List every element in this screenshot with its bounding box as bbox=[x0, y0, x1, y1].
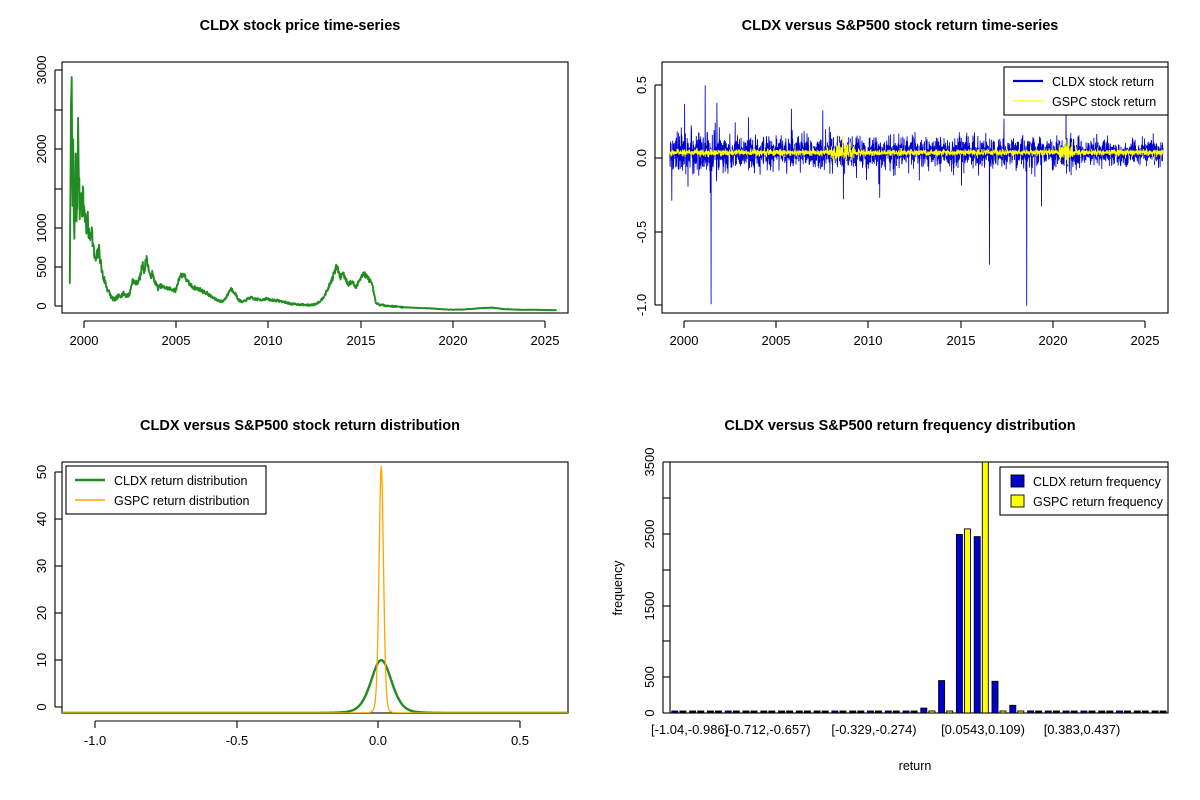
histogram-bar bbox=[974, 537, 980, 713]
cldx-density-curve bbox=[62, 660, 568, 713]
histogram-bar bbox=[1053, 711, 1059, 713]
histogram-bar bbox=[707, 711, 713, 713]
x-tick-label: 2000 bbox=[70, 333, 99, 348]
histogram-bar bbox=[796, 711, 802, 713]
y-tick-label: 0 bbox=[34, 703, 49, 710]
histogram-bar bbox=[1089, 711, 1095, 713]
histogram-bar bbox=[850, 711, 856, 713]
y-tick-label: -0.5 bbox=[634, 221, 649, 243]
x-tick-label: -1.0 bbox=[84, 733, 106, 748]
plot-box bbox=[62, 62, 568, 313]
histogram-bar bbox=[868, 711, 874, 713]
histogram-bar bbox=[956, 535, 962, 714]
histogram-bar bbox=[733, 711, 739, 713]
y-tick-label: 0 bbox=[34, 302, 49, 309]
legend-swatch-cldx bbox=[1011, 475, 1024, 487]
histogram-bar bbox=[787, 711, 793, 713]
histogram-bar bbox=[885, 711, 891, 713]
x-tick-label: 0.5 bbox=[511, 733, 529, 748]
histogram-bar bbox=[751, 711, 757, 713]
x-axis-ticks bbox=[684, 321, 1145, 328]
y-axis-ticks bbox=[55, 472, 62, 707]
y-tick-label: 1000 bbox=[34, 214, 49, 243]
x-tick-label: 0.0 bbox=[369, 733, 387, 748]
histogram-bar bbox=[1036, 711, 1042, 713]
x-tick-label: -0.5 bbox=[226, 733, 248, 748]
plot-price-timeseries: 0 500 1000 2000 3000 2000 2005 2010 2015… bbox=[0, 0, 600, 400]
panel-return-timeseries: CLDX versus S&P500 stock return time-ser… bbox=[600, 0, 1200, 400]
y-axis-ticks bbox=[655, 85, 662, 305]
histogram-bar bbox=[814, 711, 820, 713]
x-tick-label: [0.0543,0.109) bbox=[941, 722, 1025, 737]
y-tick-label: 2000 bbox=[34, 135, 49, 164]
y-axis-ticks bbox=[663, 462, 670, 713]
gspc-return-series bbox=[670, 136, 1163, 166]
histogram-bar bbox=[1045, 711, 1051, 713]
histogram-bar bbox=[947, 711, 953, 713]
histogram-bar bbox=[822, 711, 828, 713]
histogram-bar bbox=[982, 462, 988, 713]
histogram-bar bbox=[761, 711, 767, 713]
histogram-bar bbox=[921, 708, 927, 713]
histogram-bar bbox=[1081, 711, 1087, 713]
legend-label: GSPC return frequency bbox=[1033, 495, 1164, 509]
histogram-bar bbox=[1152, 711, 1158, 713]
x-tick-label: 2025 bbox=[531, 333, 560, 348]
x-axis-label: return bbox=[899, 759, 932, 773]
y-tick-label: 500 bbox=[34, 256, 49, 278]
histogram-bar bbox=[1028, 711, 1034, 713]
histogram-bar bbox=[965, 529, 971, 713]
histogram-bar bbox=[1125, 711, 1131, 713]
x-tick-label: [-0.329,-0.274) bbox=[831, 722, 916, 737]
x-tick-label: 2010 bbox=[254, 333, 283, 348]
panel-return-frequency: CLDX versus S&P500 return frequency dist… bbox=[600, 400, 1200, 800]
y-tick-label: 30 bbox=[34, 559, 49, 573]
x-tick-label: 2020 bbox=[1039, 333, 1068, 348]
histogram-bar bbox=[1063, 711, 1069, 713]
histogram-bar bbox=[840, 711, 846, 713]
y-tick-label: 1500 bbox=[642, 592, 657, 621]
plot-return-frequency: 0 500 1500 2500 3500 frequency [-1.04,-0… bbox=[600, 400, 1200, 800]
x-tick-label: 2005 bbox=[162, 333, 191, 348]
y-tick-label: 500 bbox=[642, 666, 657, 688]
histogram-bar bbox=[992, 681, 998, 713]
y-tick-label: 10 bbox=[34, 653, 49, 667]
x-tick-label: [-0.712,-0.657) bbox=[725, 722, 810, 737]
y-tick-label: 0.0 bbox=[634, 149, 649, 167]
y-axis-ticks bbox=[55, 70, 62, 306]
x-tick-label: 2025 bbox=[1131, 333, 1160, 348]
y-tick-label: 3000 bbox=[34, 56, 49, 85]
histogram-bar bbox=[1018, 711, 1024, 713]
y-axis-label: frequency bbox=[611, 560, 625, 616]
histogram-bar bbox=[743, 711, 749, 713]
panel-price-timeseries: CLDX stock price time-series 0 500 1000 … bbox=[0, 0, 600, 400]
legend-return-distribution: CLDX return distribution GSPC return dis… bbox=[66, 466, 266, 514]
x-tick-label: [-1.04,-0.986) bbox=[651, 722, 729, 737]
histogram-bar bbox=[939, 681, 945, 713]
legend-label: CLDX return distribution bbox=[114, 474, 247, 488]
histogram-bar bbox=[725, 711, 731, 713]
histogram-bar bbox=[769, 711, 775, 713]
y-tick-label: 40 bbox=[34, 512, 49, 526]
x-tick-label: 2000 bbox=[670, 333, 699, 348]
histogram-bar bbox=[1071, 711, 1077, 713]
y-tick-label: 0 bbox=[642, 709, 657, 716]
x-tick-label: 2015 bbox=[947, 333, 976, 348]
histogram-bar bbox=[680, 711, 686, 713]
x-tick-label: [0.383,0.437) bbox=[1044, 722, 1121, 737]
x-tick-label: 2010 bbox=[854, 333, 883, 348]
histogram-bar bbox=[903, 711, 909, 713]
histogram-bar bbox=[1142, 711, 1148, 713]
histogram-bar bbox=[1099, 711, 1105, 713]
histogram-bar bbox=[672, 711, 678, 713]
legend-return-frequency: CLDX return frequency GSPC return freque… bbox=[1000, 467, 1168, 515]
x-tick-label: 2015 bbox=[347, 333, 376, 348]
histogram-bar bbox=[698, 711, 704, 713]
histogram-bar bbox=[779, 711, 785, 713]
y-tick-label: 0.5 bbox=[634, 76, 649, 94]
legend-swatch-gspc bbox=[1011, 495, 1024, 507]
cldx-return-series bbox=[670, 85, 1163, 305]
histogram-bar bbox=[893, 711, 899, 713]
histogram-bar bbox=[716, 711, 722, 713]
histogram-bar bbox=[1107, 711, 1113, 713]
histogram-bar bbox=[1010, 705, 1016, 713]
histogram-bar bbox=[804, 711, 810, 713]
y-tick-label: 3500 bbox=[642, 448, 657, 477]
y-tick-label: 20 bbox=[34, 606, 49, 620]
plot-return-timeseries: -1.0 -0.5 0.0 0.5 2000 2005 2010 2015 20… bbox=[600, 0, 1200, 400]
legend-return-timeseries: CLDX stock return GSPC stock return bbox=[1004, 67, 1168, 115]
y-tick-label: 2500 bbox=[642, 520, 657, 549]
legend-label: GSPC stock return bbox=[1052, 95, 1156, 109]
plot-return-distribution: 0 10 20 30 40 50 -1.0 -0.5 0.0 0.5 bbox=[0, 400, 600, 800]
x-axis-ticks bbox=[84, 321, 545, 328]
histogram-bar bbox=[929, 711, 935, 713]
histogram-bar bbox=[690, 711, 696, 713]
histogram-bar bbox=[1134, 711, 1140, 713]
panel-return-distribution: CLDX versus S&P500 stock return distribu… bbox=[0, 400, 600, 800]
figure-root: CLDX stock price time-series 0 500 1000 … bbox=[0, 0, 1200, 800]
legend-label: GSPC return distribution bbox=[114, 494, 250, 508]
histogram-bar bbox=[1000, 711, 1006, 713]
histogram-bar bbox=[1117, 711, 1123, 713]
x-tick-label: 2005 bbox=[762, 333, 791, 348]
x-tick-label: 2020 bbox=[439, 333, 468, 348]
legend-label: CLDX stock return bbox=[1052, 75, 1154, 89]
y-tick-label: 50 bbox=[34, 465, 49, 479]
histogram-bar bbox=[876, 711, 882, 713]
x-axis-ticks bbox=[95, 721, 520, 728]
price-line-series bbox=[70, 77, 556, 310]
y-tick-label: -1.0 bbox=[634, 294, 649, 316]
legend-label: CLDX return frequency bbox=[1033, 475, 1162, 489]
histogram-bar bbox=[858, 711, 864, 713]
histogram-bar bbox=[911, 711, 917, 713]
histogram-bar bbox=[832, 711, 838, 713]
histogram-bar bbox=[1160, 711, 1166, 713]
